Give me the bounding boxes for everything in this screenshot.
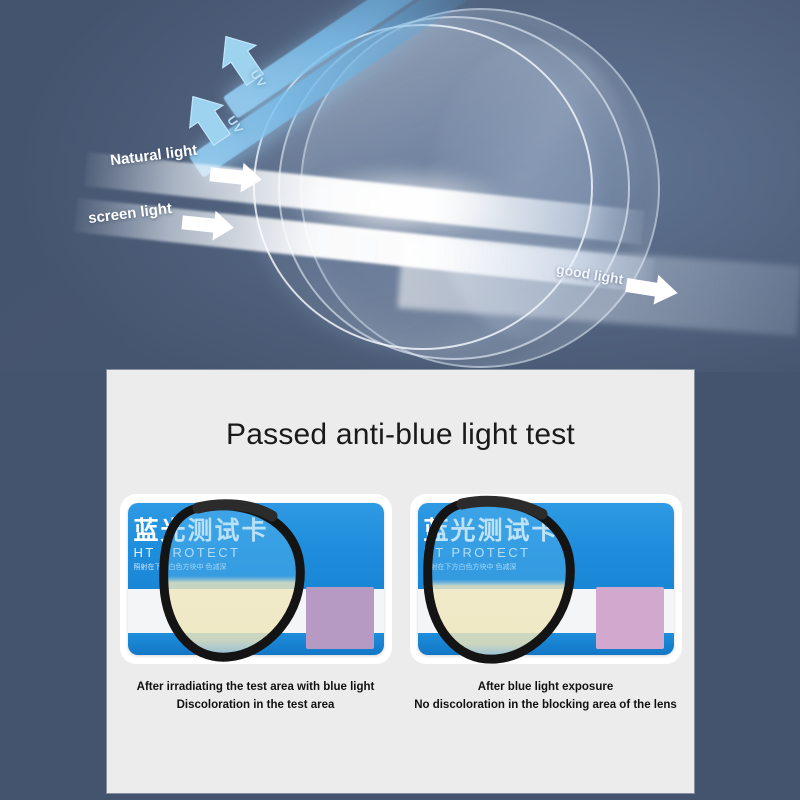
- blue-light-test-card: 蓝光测试卡 HT PROTECT 照射在下方白色方块中 色减深: [128, 503, 384, 655]
- card-title-cn: 蓝光测试卡: [134, 511, 269, 547]
- test-card-right-photo[interactable]: 蓝光测试卡 HT PROTECT 照射在下方白色方块中 色减深: [410, 494, 682, 664]
- caption-line-2: No discoloration in the blocking area of…: [410, 696, 682, 714]
- caption-line-1: After blue light exposure: [410, 678, 682, 696]
- caption-line-2: Discoloration in the test area: [120, 696, 392, 714]
- test-patch-discolored: [306, 587, 374, 649]
- test-card-left: 蓝光测试卡 HT PROTECT 照射在下方白色方块中 色减深: [120, 494, 392, 714]
- test-card-right: 蓝光测试卡 HT PROTECT 照射在下方白色方块中 色减深: [410, 494, 682, 714]
- test-card-gallery: 蓝光测试卡 HT PROTECT 照射在下方白色方块中 色减深: [107, 494, 694, 714]
- good-light-beam: [398, 238, 800, 336]
- test-card-left-photo[interactable]: 蓝光测试卡 HT PROTECT 照射在下方白色方块中 色减深: [120, 494, 392, 664]
- test-card-left-caption: After irradiating the test area with blu…: [120, 678, 392, 714]
- blue-light-test-card: 蓝光测试卡 HT PROTECT 照射在下方白色方块中 色减深: [418, 503, 674, 655]
- card-subtext: 照射在下方白色方块中 色减深: [424, 563, 517, 572]
- test-card-right-caption: After blue light exposure No discolorati…: [410, 678, 682, 714]
- page-title: Passed anti-blue light test: [107, 370, 694, 452]
- product-feature-image: UV UV Natural light screen light good li…: [0, 0, 800, 800]
- blue-light-test-panel: Passed anti-blue light test 蓝光测试卡 HT PRO…: [107, 370, 694, 793]
- beam-intersection-glow: [250, 150, 550, 260]
- card-subtext: 照射在下方白色方块中 色减深: [134, 563, 227, 572]
- card-title-en: HT PROTECT: [424, 545, 531, 560]
- card-title-en: HT PROTECT: [134, 545, 241, 560]
- lens-light-diagram: UV UV Natural light screen light good li…: [0, 0, 800, 372]
- test-patch-unchanged: [596, 587, 664, 649]
- card-title-cn: 蓝光测试卡: [424, 511, 559, 547]
- caption-line-1: After irradiating the test area with blu…: [120, 678, 392, 696]
